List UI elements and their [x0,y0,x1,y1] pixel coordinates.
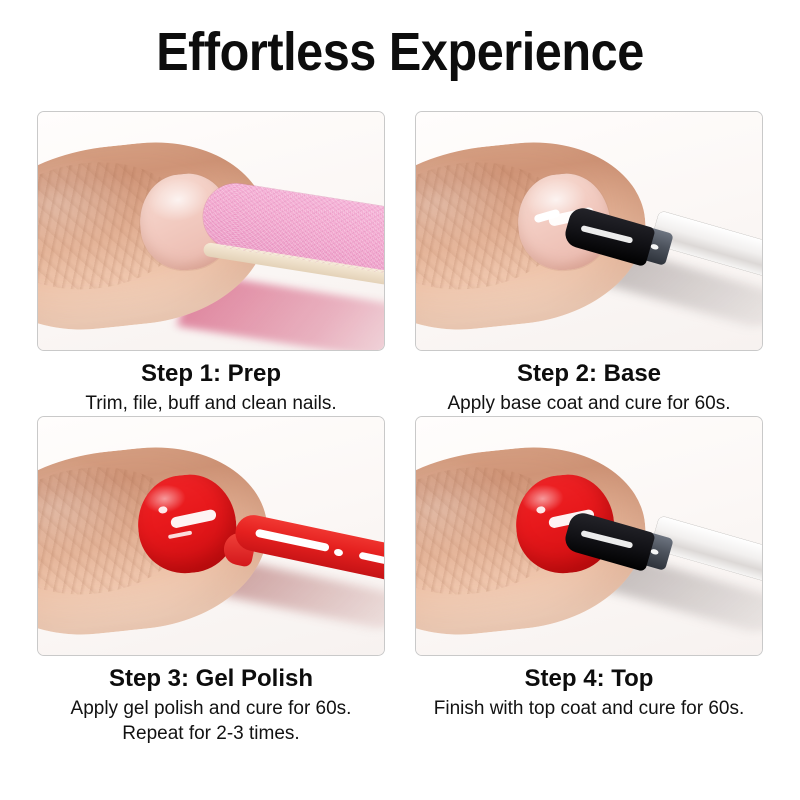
step-1-caption-line-1: Trim, file, buff and clean nails. [37,391,385,416]
step-1-photo [37,111,385,351]
step-4-caption-line-1: Finish with top coat and cure for 60s. [415,696,763,721]
step-3-title: Step 3: Gel Polish [37,664,385,694]
step-card-1: Step 1: Prep Trim, file, buff and clean … [37,111,385,416]
step-1-caption: Trim, file, buff and clean nails. [37,391,385,416]
steps-grid: Step 1: Prep Trim, file, buff and clean … [37,111,763,746]
step-card-4: Step 4: Top Finish with top coat and cur… [415,416,763,746]
step-3-caption-line-1: Apply gel polish and cure for 60s. [37,696,385,721]
nail-gloss-dot [158,506,168,514]
nail-gloss-dot [536,506,546,514]
step-4-photo [415,416,763,656]
step-2-caption: Apply base coat and cure for 60s. [415,391,763,416]
step-card-2: Step 2: Base Apply base coat and cure fo… [415,111,763,416]
step-2-title: Step 2: Base [415,359,763,389]
step-4-caption: Finish with top coat and cure for 60s. [415,696,763,721]
step-2-caption-line-1: Apply base coat and cure for 60s. [415,391,763,416]
nail-gloss-highlight [170,509,217,529]
step-3-photo [37,416,385,656]
page-title: Effortless Experience [40,22,760,82]
step-2-photo [415,111,763,351]
infographic-page: Effortless Experience Step 1: Prep Trim,… [0,0,800,800]
step-1-title: Step 1: Prep [37,359,385,389]
step-4-title: Step 4: Top [415,664,763,694]
step-3-caption: Apply gel polish and cure for 60s. Repea… [37,696,385,746]
nail-gloss-streak [168,530,192,539]
step-3-caption-line-2: Repeat for 2-3 times. [37,721,385,746]
step-card-3: Step 3: Gel Polish Apply gel polish and … [37,416,385,746]
